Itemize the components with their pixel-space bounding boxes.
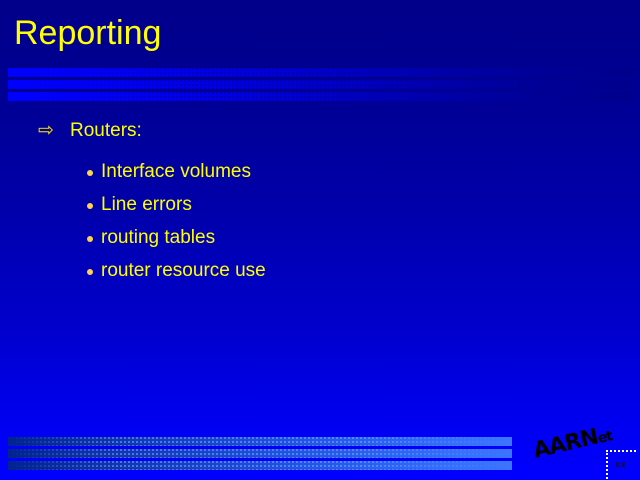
top-decorative-bars — [8, 68, 632, 101]
list-item-label: Interface volumes — [101, 159, 251, 185]
dot-bullet-icon — [87, 203, 93, 209]
slide-body: ⇨ Routers: Interface volumes Line errors… — [0, 118, 640, 294]
decorative-bar — [8, 449, 512, 458]
bottom-decorative-bars — [8, 437, 512, 470]
list-item-label: router resource use — [101, 258, 266, 284]
decorative-bar — [8, 68, 632, 77]
bullet-level1-label: Routers: — [70, 118, 142, 144]
dot-bullet-icon — [87, 236, 93, 242]
page-number-text: xx — [615, 460, 626, 469]
page-number-placeholder: xx — [606, 450, 636, 479]
bullet-level1: ⇨ Routers: — [0, 118, 640, 148]
list-item-label: routing tables — [101, 225, 215, 251]
presentation-slide: Reporting ⇨ Routers: Interface volumes L… — [0, 0, 640, 480]
aarnet-logo-main: AARN — [531, 425, 600, 464]
decorative-bar — [8, 80, 632, 89]
bullet-level2-list: Interface volumes Line errors routing ta… — [0, 162, 640, 294]
decorative-bar — [8, 437, 512, 446]
list-item-label: Line errors — [101, 192, 192, 218]
dot-bullet-icon — [87, 269, 93, 275]
aarnet-logo-suffix: et — [596, 428, 613, 447]
dot-bullet-icon — [87, 170, 93, 176]
decorative-bar — [8, 461, 512, 470]
list-item: Line errors — [0, 195, 640, 228]
list-item: routing tables — [0, 228, 640, 261]
decorative-bar — [8, 92, 632, 101]
list-item: router resource use — [0, 261, 640, 294]
aarnet-logo: AARNet — [531, 425, 607, 474]
arrow-right-icon: ⇨ — [38, 118, 54, 144]
page-title: Reporting — [14, 13, 161, 53]
list-item: Interface volumes — [0, 162, 640, 195]
